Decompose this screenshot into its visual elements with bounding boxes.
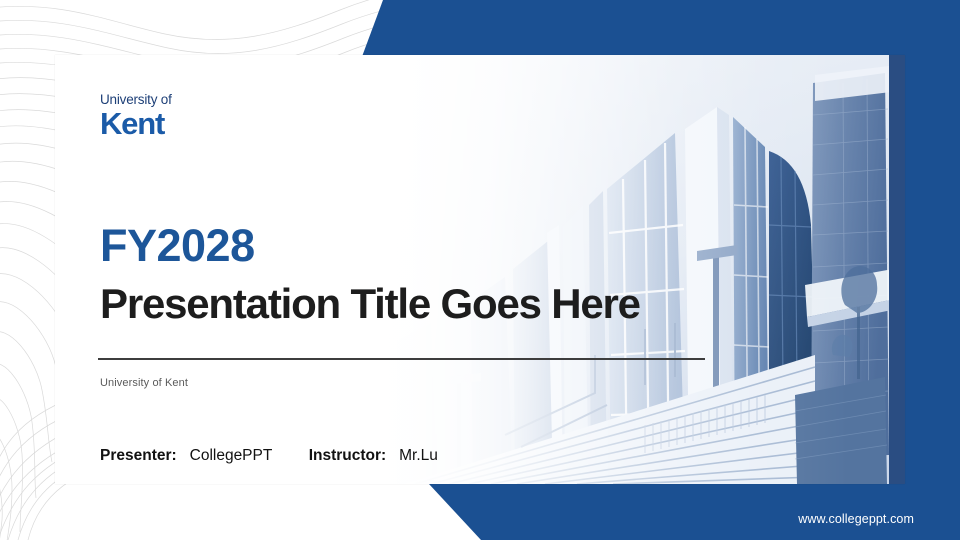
logo-line-kent: Kent <box>100 108 172 139</box>
slide-content-card: University of Kent FY2028 Presentation T… <box>55 55 905 484</box>
presenter-label: Presenter: <box>100 447 177 464</box>
instructor-value: Mr.Lu <box>399 447 438 464</box>
logo-line-university-of: University of <box>100 93 172 107</box>
title-divider <box>98 358 705 360</box>
right-blue-shape <box>900 0 960 540</box>
credits-row: Presenter: CollegePPT Instructor: Mr.Lu <box>100 447 438 465</box>
fiscal-year-label: FY2028 <box>100 223 255 268</box>
university-logo: University of Kent <box>100 93 172 139</box>
footer-website-url[interactable]: www.collegeppt.com <box>798 512 914 526</box>
subtitle-text: University of Kent <box>100 377 188 389</box>
page-title: Presentation Title Goes Here <box>100 283 640 325</box>
card-text-content: University of Kent FY2028 Presentation T… <box>55 55 905 484</box>
top-blue-shape <box>360 0 960 62</box>
presentation-slide: University of Kent FY2028 Presentation T… <box>0 0 960 540</box>
presenter-value: CollegePPT <box>190 447 272 464</box>
instructor-label: Instructor: <box>309 447 387 464</box>
